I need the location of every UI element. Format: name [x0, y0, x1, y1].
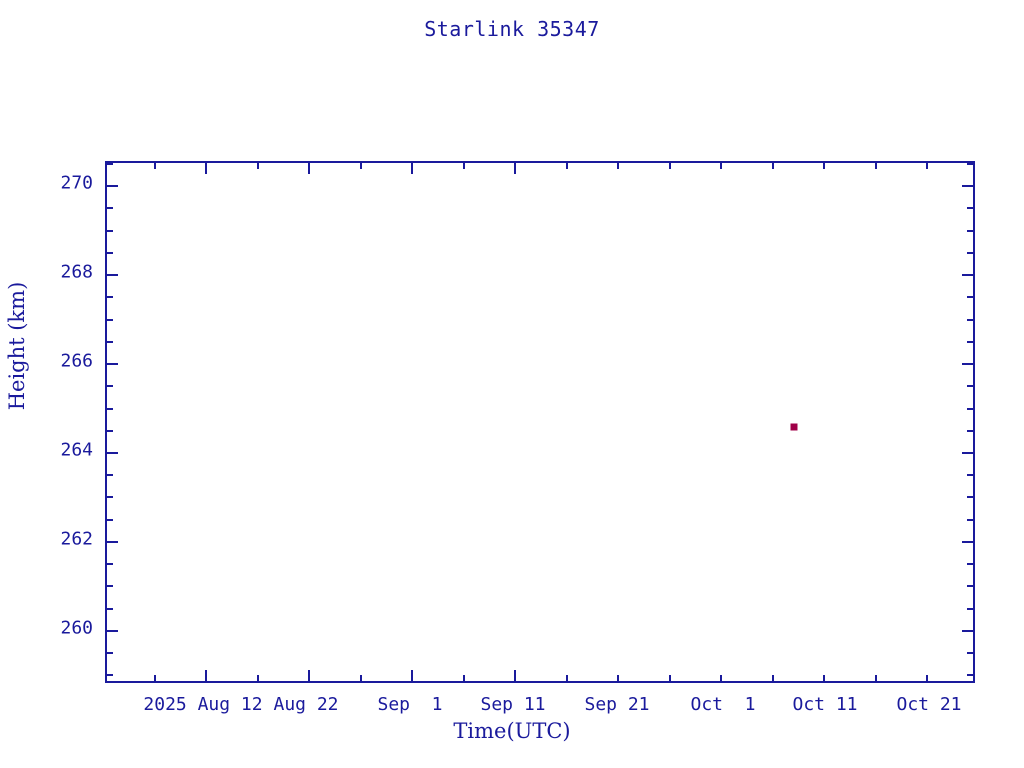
x-axis-major-tick-top — [308, 163, 310, 174]
y-axis-minor-tick-right — [967, 230, 973, 232]
y-axis-minor-tick-right — [967, 408, 973, 410]
x-axis-title: Time(UTC) — [0, 719, 1024, 743]
y-axis-minor-tick-right — [967, 474, 973, 476]
x-axis-tick-label: Oct 21 — [896, 694, 961, 715]
x-axis-minor-tick-top — [772, 163, 774, 169]
y-axis-minor-tick-right — [967, 296, 973, 298]
x-axis-minor-tick — [463, 675, 465, 681]
y-axis-major-tick-right — [962, 452, 973, 454]
x-axis-major-tick — [514, 670, 516, 681]
y-axis-major-tick — [107, 274, 118, 276]
y-axis-major-tick-right — [962, 274, 973, 276]
x-axis-minor-tick — [669, 675, 671, 681]
x-axis-minor-tick — [566, 675, 568, 681]
y-axis-major-tick-right — [962, 363, 973, 365]
x-axis-tick-label: Aug 22 — [273, 694, 338, 715]
x-axis-minor-tick — [875, 675, 877, 681]
y-axis-minor-tick-right — [967, 496, 973, 498]
y-axis-major-tick-right — [962, 541, 973, 543]
y-axis-minor-tick-right — [967, 207, 973, 209]
y-axis-minor-tick-right — [967, 519, 973, 521]
y-axis-minor-tick — [107, 341, 113, 343]
y-axis-minor-tick — [107, 608, 113, 610]
y-axis-minor-tick — [107, 430, 113, 432]
y-axis-tick-label: 260 — [33, 617, 93, 638]
y-axis-minor-tick — [107, 252, 113, 254]
y-axis-minor-tick-right — [967, 563, 973, 565]
y-axis-minor-tick — [107, 674, 113, 676]
x-axis-minor-tick — [617, 675, 619, 681]
x-axis-major-tick — [411, 670, 413, 681]
y-axis-major-tick — [107, 363, 118, 365]
x-axis-minor-tick — [926, 675, 928, 681]
y-axis-minor-tick-right — [967, 652, 973, 654]
x-axis-minor-tick — [257, 675, 259, 681]
data-layer — [107, 163, 973, 681]
x-axis-minor-tick-top — [669, 163, 671, 169]
y-axis-minor-tick-right — [967, 430, 973, 432]
y-axis-major-tick — [107, 452, 118, 454]
x-axis-minor-tick-top — [154, 163, 156, 169]
x-axis-minor-tick-top — [875, 163, 877, 169]
x-axis-minor-tick — [154, 675, 156, 681]
y-axis-minor-tick — [107, 163, 113, 165]
x-axis-minor-tick — [360, 675, 362, 681]
x-axis-major-tick-top — [205, 163, 207, 174]
y-axis-major-tick-right — [962, 185, 973, 187]
x-axis-minor-tick-top — [463, 163, 465, 169]
y-axis-minor-tick — [107, 496, 113, 498]
y-axis-minor-tick-right — [967, 252, 973, 254]
y-axis-tick-label: 268 — [33, 262, 93, 283]
y-axis-minor-tick-right — [967, 674, 973, 676]
chart-figure: Starlink 35347 2702682662642622602025 Au… — [0, 0, 1024, 768]
y-axis-minor-tick — [107, 474, 113, 476]
y-axis-minor-tick — [107, 296, 113, 298]
x-axis-major-tick — [308, 670, 310, 681]
y-axis-tick-label: 266 — [33, 351, 93, 372]
x-axis-minor-tick-top — [617, 163, 619, 169]
y-axis-major-tick — [107, 185, 118, 187]
x-axis-minor-tick-top — [823, 163, 825, 169]
x-axis-minor-tick — [772, 675, 774, 681]
y-axis-minor-tick — [107, 230, 113, 232]
x-axis-minor-tick — [823, 675, 825, 681]
page-title: Starlink 35347 — [0, 17, 1024, 41]
y-axis-title: Height (km) — [5, 166, 29, 526]
x-axis-major-tick-top — [411, 163, 413, 174]
y-axis-minor-tick-right — [967, 385, 973, 387]
x-axis-minor-tick-top — [926, 163, 928, 169]
y-axis-minor-tick — [107, 319, 113, 321]
x-axis-tick-label: Sep 21 — [584, 694, 649, 715]
x-axis-major-tick-top — [514, 163, 516, 174]
y-axis-major-tick-right — [962, 630, 973, 632]
y-axis-minor-tick — [107, 385, 113, 387]
y-axis-minor-tick-right — [967, 608, 973, 610]
y-axis-tick-label: 262 — [33, 528, 93, 549]
x-axis-minor-tick — [720, 675, 722, 681]
y-axis-tick-label: 264 — [33, 440, 93, 461]
x-axis-minor-tick-top — [257, 163, 259, 169]
y-axis-minor-tick-right — [967, 585, 973, 587]
x-axis-minor-tick-top — [566, 163, 568, 169]
data-point-marker — [791, 424, 798, 431]
y-axis-tick-label: 270 — [33, 173, 93, 194]
y-axis-minor-tick-right — [967, 163, 973, 165]
plot-frame — [105, 161, 975, 683]
y-axis-minor-tick — [107, 652, 113, 654]
y-axis-minor-tick-right — [967, 341, 973, 343]
x-axis-tick-label: 2025 Aug 12 — [143, 694, 262, 715]
x-axis-tick-label: Sep 11 — [480, 694, 545, 715]
x-axis-minor-tick-top — [360, 163, 362, 169]
y-axis-minor-tick-right — [967, 319, 973, 321]
y-axis-minor-tick — [107, 563, 113, 565]
x-axis-major-tick — [205, 670, 207, 681]
x-axis-tick-label: Oct 1 — [690, 694, 755, 715]
x-axis-minor-tick-top — [720, 163, 722, 169]
y-axis-major-tick — [107, 541, 118, 543]
y-axis-minor-tick — [107, 207, 113, 209]
x-axis-tick-label: Oct 11 — [792, 694, 857, 715]
y-axis-major-tick — [107, 630, 118, 632]
y-axis-minor-tick — [107, 585, 113, 587]
y-axis-minor-tick — [107, 519, 113, 521]
y-axis-minor-tick — [107, 408, 113, 410]
x-axis-tick-label: Sep 1 — [377, 694, 442, 715]
